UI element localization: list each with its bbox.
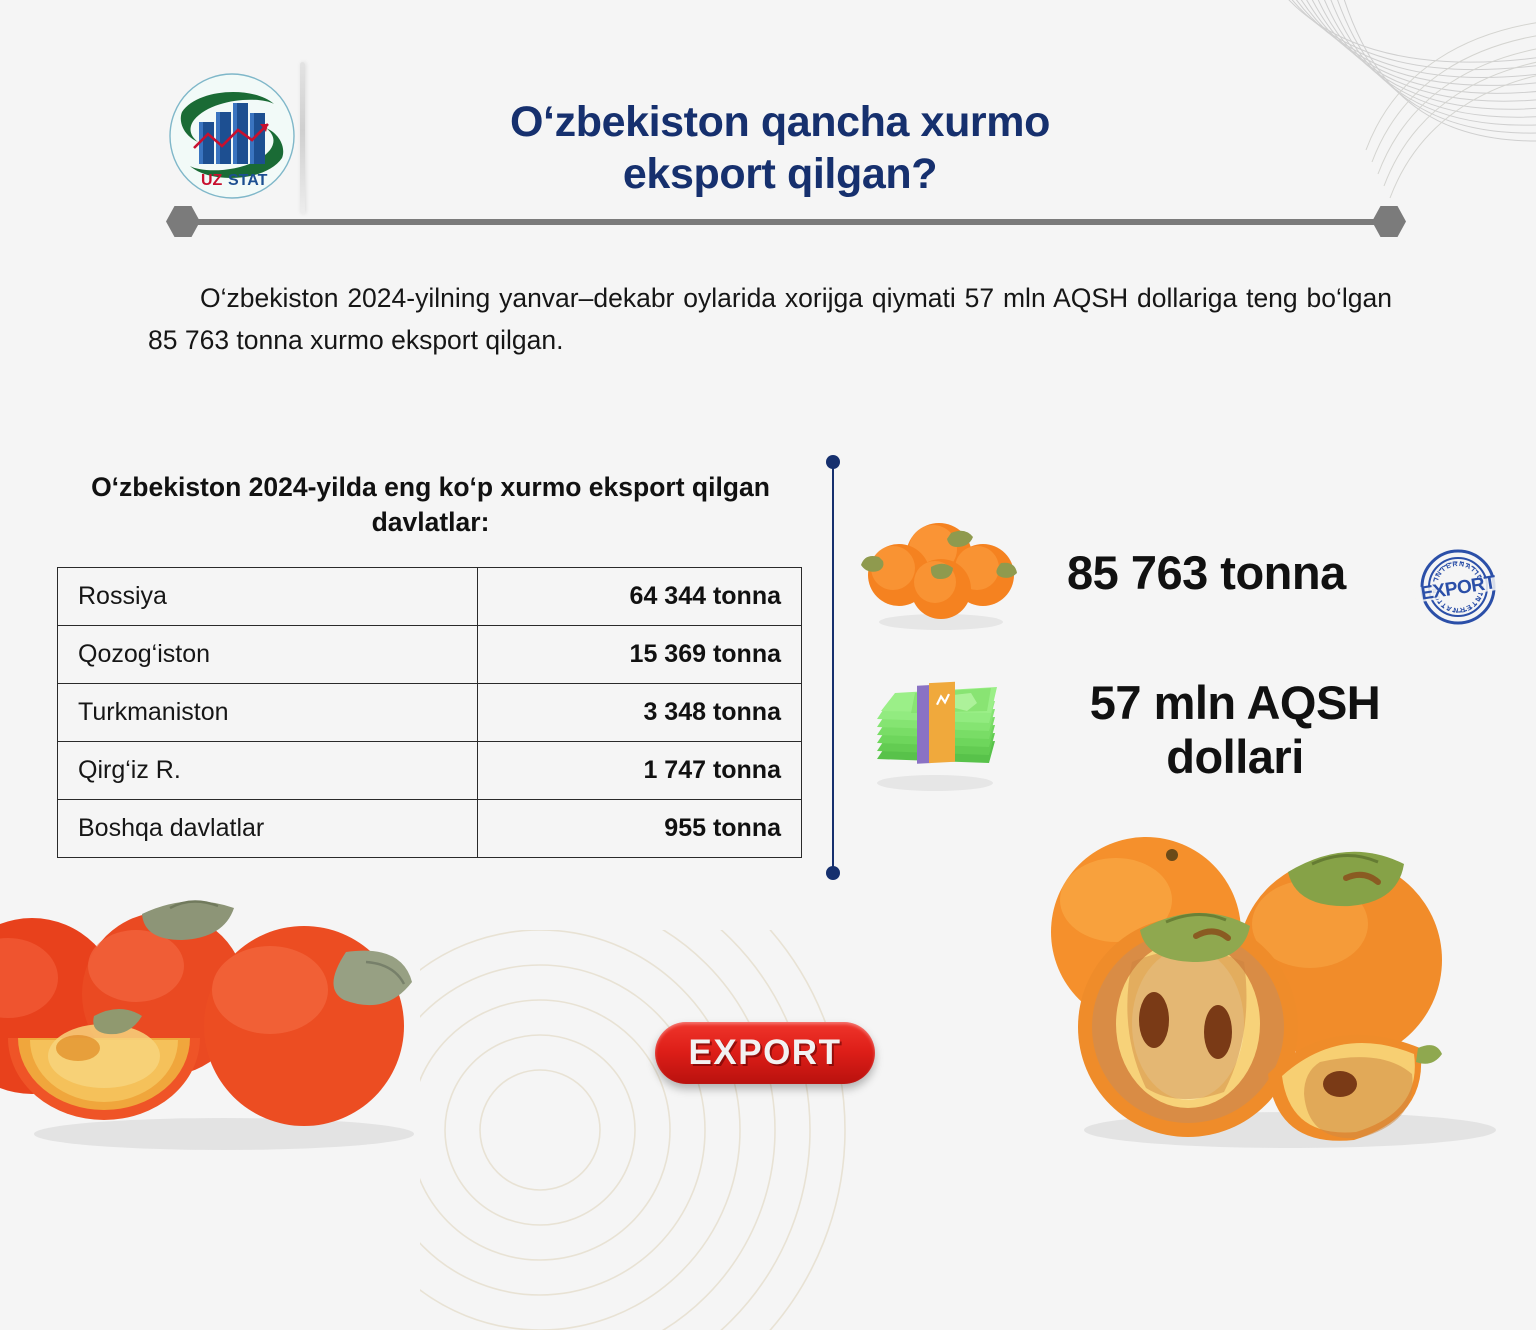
uzstat-logo-icon: UZ STAT — [168, 72, 296, 200]
export-button-label: EXPORT — [689, 1033, 842, 1073]
export-countries-table: Rossiya 64 344 tonna Qozog‘iston 15 369 … — [57, 567, 802, 858]
table-cell-value: 1 747 tonna — [478, 742, 802, 800]
stat-total-tonnes: 85 763 tonna — [855, 508, 1415, 638]
decorative-concentric-rings — [420, 930, 940, 1330]
divider-line-vertical — [832, 461, 834, 874]
uzstat-logo: UZ STAT — [168, 72, 296, 200]
table-cell-value: 64 344 tonna — [478, 568, 802, 626]
table-row: Qozog‘iston 15 369 tonna — [58, 626, 802, 684]
stats-vertical-divider — [826, 455, 840, 880]
header-hex-divider — [166, 206, 1406, 238]
table-cell-country: Qirg‘iz R. — [58, 742, 478, 800]
persimmon-photo-orange-icon — [1020, 812, 1536, 1152]
divider-dot-bottom-icon — [826, 866, 840, 880]
persimmon-photo-red-icon — [0, 866, 454, 1152]
intro-paragraph: O‘zbekiston 2024-yilning yanvar–dekabr o… — [148, 278, 1392, 362]
header: UZ STAT O‘zbekiston qancha xurmo eksport… — [0, 0, 1536, 250]
divider-line — [180, 219, 1392, 225]
table-cell-value: 3 348 tonna — [478, 684, 802, 742]
table-cell-value: 15 369 tonna — [478, 626, 802, 684]
stat-label: 85 763 tonna — [1067, 546, 1346, 600]
table-cell-value: 955 tonna — [478, 800, 802, 858]
table-cell-country: Rossiya — [58, 568, 478, 626]
page-title: O‘zbekiston qancha xurmo eksport qilgan? — [430, 96, 1130, 201]
hexagon-right-icon — [1372, 206, 1406, 237]
table-cell-country: Qozog‘iston — [58, 626, 478, 684]
table-row: Boshqa davlatlar 955 tonna — [58, 800, 802, 858]
table-cell-country: Turkmaniston — [58, 684, 478, 742]
logo-text-stat: STAT — [228, 172, 268, 189]
logo-text-uz: UZ — [201, 172, 223, 189]
money-stack-icon — [855, 667, 1015, 793]
persimmon-cluster-icon — [855, 513, 1027, 633]
table-row: Qirg‘iz R. 1 747 tonna — [58, 742, 802, 800]
table-heading: O‘zbekiston 2024-yilda eng ko‘p xurmo ek… — [58, 470, 803, 540]
table-row: Turkmaniston 3 348 tonna — [58, 684, 802, 742]
logo-vertical-divider — [300, 62, 305, 214]
table-cell-country: Boshqa davlatlar — [58, 800, 478, 858]
export-button[interactable]: EXPORT — [655, 1022, 875, 1084]
table-row: Rossiya 64 344 tonna — [58, 568, 802, 626]
stat-label: 57 mln AQSH dollari — [1055, 676, 1415, 783]
stat-total-value: 57 mln AQSH dollari — [855, 655, 1415, 805]
export-stamp-icon: INTERNATIONAL INTERNATIONAL EXPORT — [1408, 537, 1508, 637]
